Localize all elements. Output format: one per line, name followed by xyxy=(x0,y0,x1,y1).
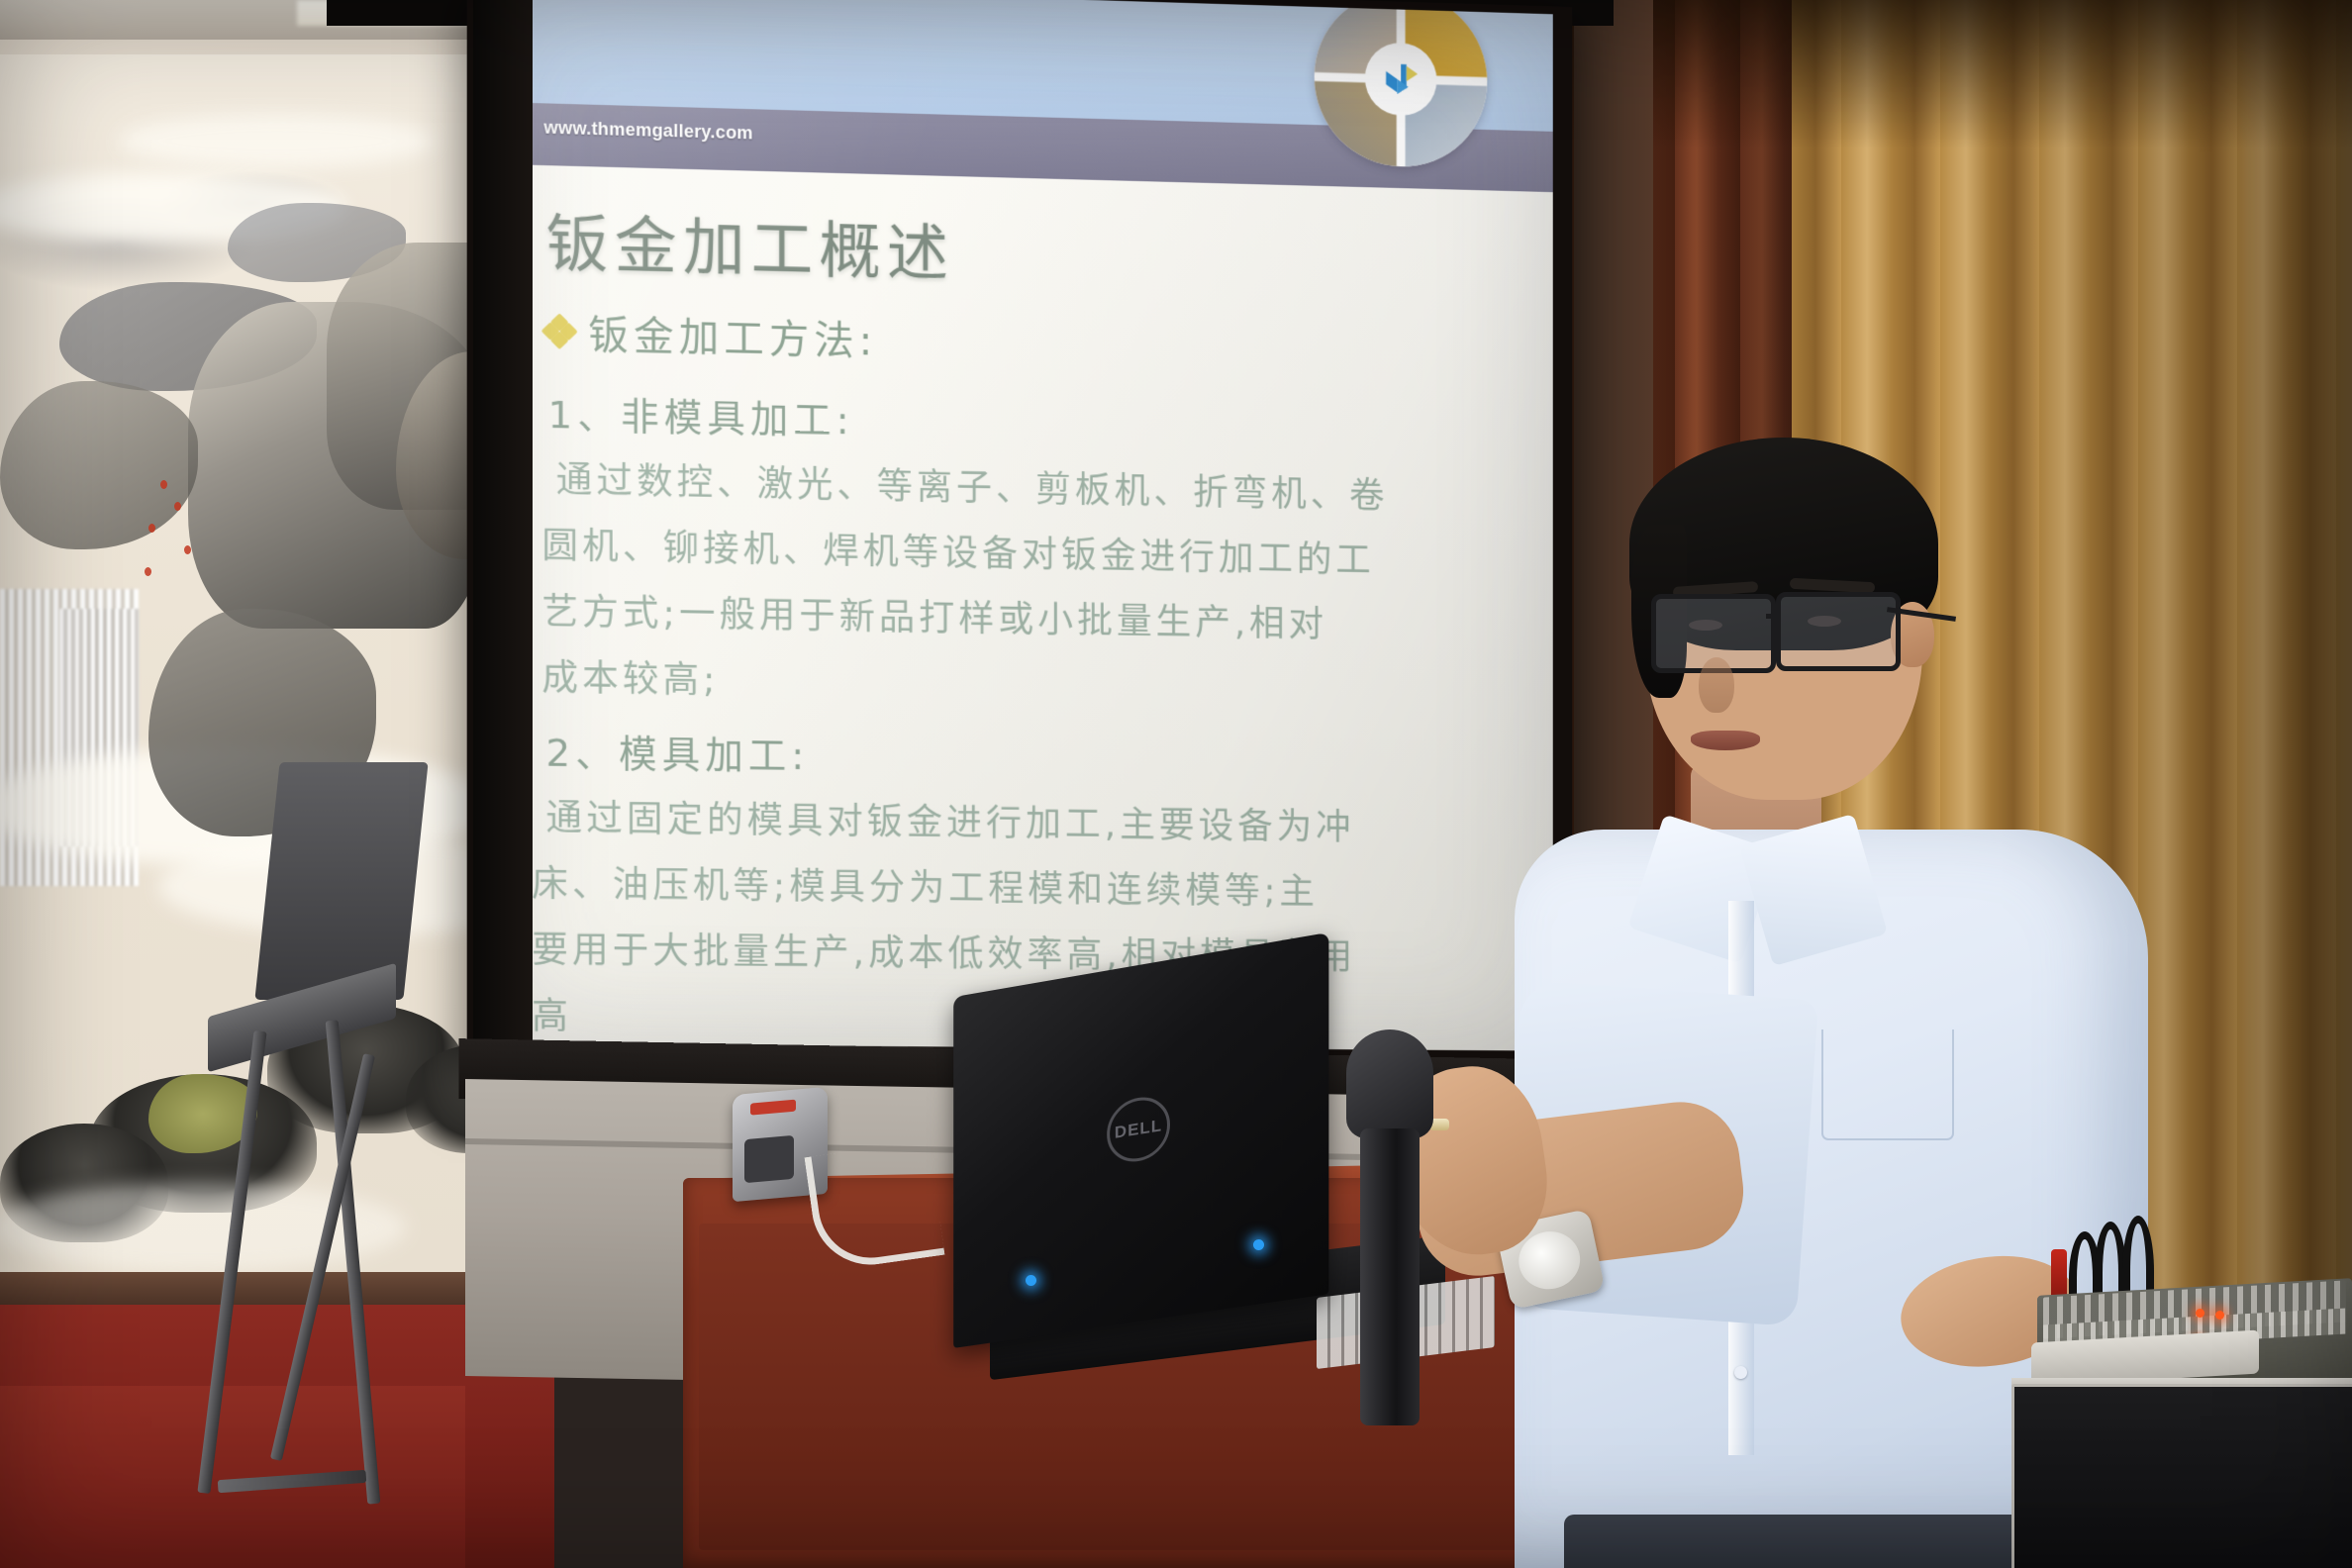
slide-section-2-line-1: 通过固定的模具对钣金进行加工,主要设备为冲 xyxy=(545,790,1543,859)
mixer-led-2 xyxy=(2215,1311,2224,1320)
mouth xyxy=(1691,731,1760,750)
chest-pocket xyxy=(1821,1029,1954,1140)
folding-chair xyxy=(208,980,475,1564)
slide-section-2-line-3: 要用于大批量生产,成本低效率高,相对模具费用 xyxy=(532,922,1529,988)
slide-section-2-heading: 2、模具加工: xyxy=(545,722,809,780)
laptop-lid: DELL xyxy=(953,932,1328,1348)
trousers xyxy=(1564,1515,2079,1568)
slide-section-1-heading: 1、非模具加工: xyxy=(547,384,853,445)
screenshot-root: www.thmemgallery.com 钣金加工概述 钣金加工方法: 1、非模… xyxy=(0,0,2352,1568)
diamond-bullet-icon xyxy=(543,316,574,346)
logo-k-mark xyxy=(1379,56,1423,103)
slide-bullet-row: 钣金加工方法: xyxy=(543,302,877,367)
laptop-activity-led xyxy=(1253,1239,1264,1250)
handheld-microphone[interactable] xyxy=(1346,1029,1433,1425)
powerpoint-slide: www.thmemgallery.com 钣金加工概述 钣金加工方法: 1、非模… xyxy=(487,0,1553,1051)
dell-logo-icon: DELL xyxy=(1107,1092,1170,1165)
mixer-led-1 xyxy=(2196,1309,2205,1318)
eyeglasses xyxy=(1649,592,1938,669)
nose xyxy=(1699,657,1734,713)
screen-left-bezel xyxy=(473,0,533,1049)
projection-screen: www.thmemgallery.com 钣金加工概述 钣金加工方法: 1、非模… xyxy=(467,0,1573,1092)
slide-bullet-text: 钣金加工方法: xyxy=(588,303,877,367)
slide-title: 钣金加工概述 xyxy=(545,193,954,293)
flight-case xyxy=(2011,1384,2352,1568)
slide-section-2-line-2: 床、油压机等;模具分为工程模和连续模等;主 xyxy=(532,855,1529,924)
laptop-power-led xyxy=(1026,1275,1036,1286)
themegallery-logo-icon xyxy=(1315,0,1488,169)
